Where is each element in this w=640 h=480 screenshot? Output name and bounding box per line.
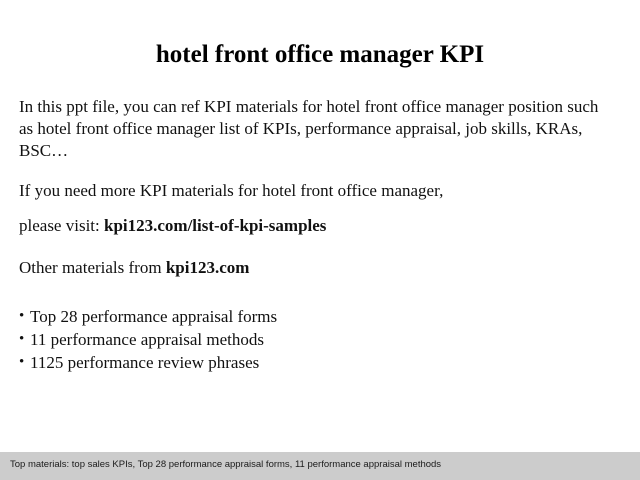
list-item: •1125 performance review phrases [19,351,599,374]
list-item: •11 performance appraisal methods [19,328,599,351]
other-materials-label: Other materials from [19,258,166,277]
footer-materials-text: Top materials: top sales KPIs, Top 28 pe… [10,459,441,471]
slide-canvas: hotel front office manager KPI In this p… [0,0,640,480]
footer-bar: Top materials: top sales KPIs, Top 28 pe… [0,452,640,480]
other-materials-paragraph: Other materials from kpi123.com [19,257,599,279]
kpi-samples-link[interactable]: kpi123.com/list-of-kpi-samples [104,216,326,235]
materials-bullet-list: •Top 28 performance appraisal forms •11 … [19,305,599,374]
bullet-icon: • [19,305,24,328]
slide-body: In this ppt file, you can ref KPI materi… [19,96,599,374]
list-item-label: Top 28 performance appraisal forms [30,307,277,326]
visit-paragraph: please visit: kpi123.com/list-of-kpi-sam… [19,215,599,237]
list-item: •Top 28 performance appraisal forms [19,305,599,328]
need-more-paragraph: If you need more KPI materials for hotel… [19,180,599,202]
bullet-icon: • [19,351,24,374]
visit-label: please visit: [19,216,104,235]
intro-paragraph: In this ppt file, you can ref KPI materi… [19,96,599,162]
list-item-label: 11 performance appraisal methods [30,330,264,349]
bullet-icon: • [19,328,24,351]
kpi123-link[interactable]: kpi123.com [166,258,250,277]
list-item-label: 1125 performance review phrases [30,353,259,372]
page-title: hotel front office manager KPI [0,40,640,70]
